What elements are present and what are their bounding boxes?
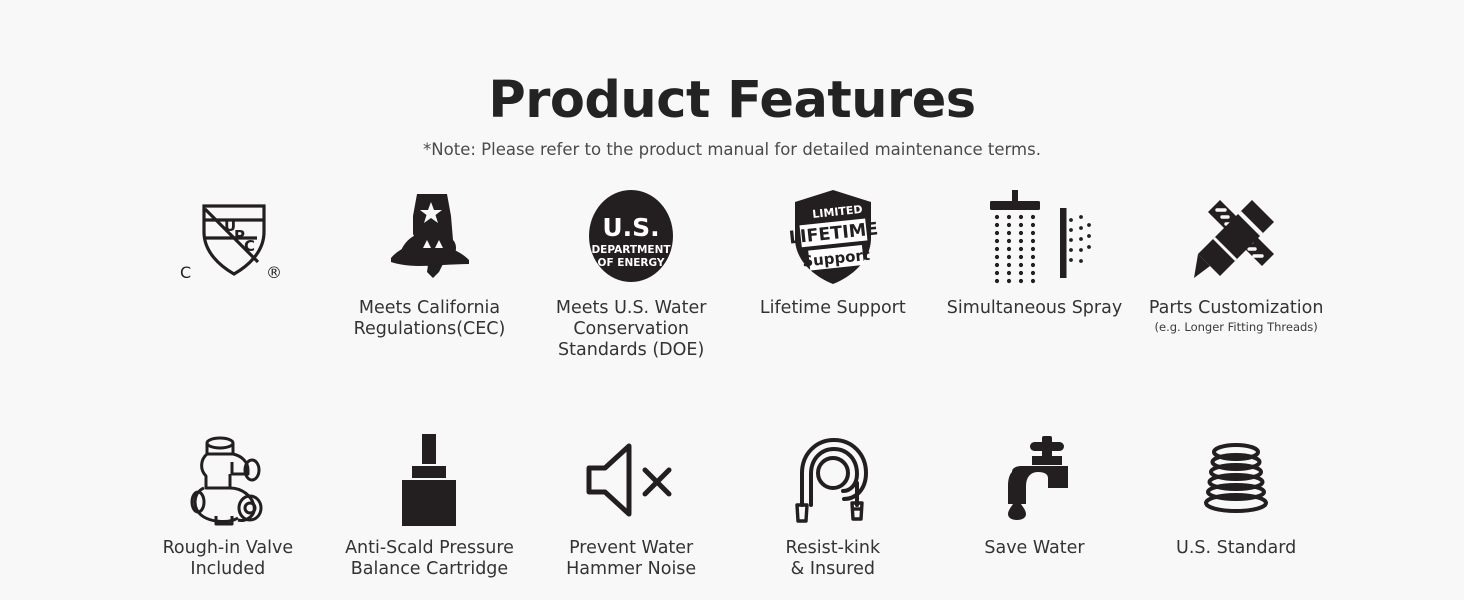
feature-label: Resist-kink & Insured — [786, 538, 881, 580]
svg-text:®: ® — [266, 263, 282, 282]
feature-label: Anti-Scald Pressure Balance Cartridge — [345, 538, 514, 580]
feature-label: Prevent Water Hammer Noise — [566, 538, 696, 580]
feature-item-cupc: U P C C ® — [127, 182, 329, 361]
feature-item-lifetime-support: LIMITED LIFETIME Support Lifetime Suppor… — [732, 182, 934, 361]
feature-item-cartridge: Anti-Scald Pressure Balance Cartridge — [329, 427, 531, 580]
feature-item-resist-kink: Resist-kink & Insured — [732, 427, 934, 580]
feature-label: Meets U.S. Water Conservation Standards … — [556, 298, 707, 361]
mute-speaker-icon — [530, 427, 732, 533]
us-department-of-energy-icon: U.S. DEPARTMENT OF ENERGY — [530, 182, 732, 290]
faucet-water-drop-icon — [934, 427, 1136, 533]
feature-item-save-water: Save Water — [934, 427, 1136, 580]
coiled-hose-icon — [732, 427, 934, 533]
feature-item-rough-in-valve: Rough-in Valve Included — [127, 427, 329, 580]
svg-text:DEPARTMENT: DEPARTMENT — [592, 244, 672, 256]
svg-text:C: C — [180, 263, 191, 282]
california-bear-icon — [329, 182, 531, 290]
cupc-shield-icon: U P C C ® — [127, 182, 329, 290]
header: Product Features *Note: Please refer to … — [0, 0, 1464, 160]
svg-text:U.S.: U.S. — [603, 213, 660, 242]
feature-label: U.S. Standard — [1176, 538, 1296, 559]
page-title: Product Features — [0, 74, 1464, 128]
rough-in-valve-icon — [127, 427, 329, 533]
feature-label: Parts Customization — [1149, 298, 1324, 319]
feature-label: Rough-in Valve Included — [163, 538, 294, 580]
feature-label: Lifetime Support — [760, 298, 906, 319]
feature-grid-row-2: Rough-in Valve Included Anti-Scald Press… — [127, 405, 1337, 580]
limited-lifetime-support-shield-icon: LIMITED LIFETIME Support — [732, 182, 934, 290]
pressure-balance-cartridge-icon — [329, 427, 531, 533]
pencil-ruler-customization-icon — [1135, 182, 1337, 290]
svg-text:OF ENERGY: OF ENERGY — [598, 257, 665, 269]
feature-item-simultaneous-spray: Simultaneous Spray — [934, 182, 1136, 361]
feature-label: Meets California Regulations(CEC) — [354, 298, 506, 340]
header-note: *Note: Please refer to the product manua… — [0, 140, 1464, 160]
threaded-pipe-icon — [1135, 427, 1337, 533]
feature-item-us-standard: U.S. Standard — [1135, 427, 1337, 580]
feature-label: Simultaneous Spray — [947, 298, 1122, 319]
simultaneous-spray-shower-icon — [934, 182, 1136, 290]
feature-item-prevent-noise: Prevent Water Hammer Noise — [530, 427, 732, 580]
feature-label: Save Water — [984, 538, 1084, 559]
feature-grid-row-1: U P C C ® — [127, 160, 1337, 361]
svg-text:C: C — [244, 237, 256, 255]
feature-item-parts-customization: Parts Customization (e.g. Longer Fitting… — [1135, 182, 1337, 361]
feature-sublabel: (e.g. Longer Fitting Threads) — [1155, 320, 1318, 334]
product-features-infographic: Product Features *Note: Please refer to … — [0, 0, 1464, 600]
feature-item-doe: U.S. DEPARTMENT OF ENERGY Meets U.S. Wat… — [530, 182, 732, 361]
feature-item-california: Meets California Regulations(CEC) — [329, 182, 531, 361]
